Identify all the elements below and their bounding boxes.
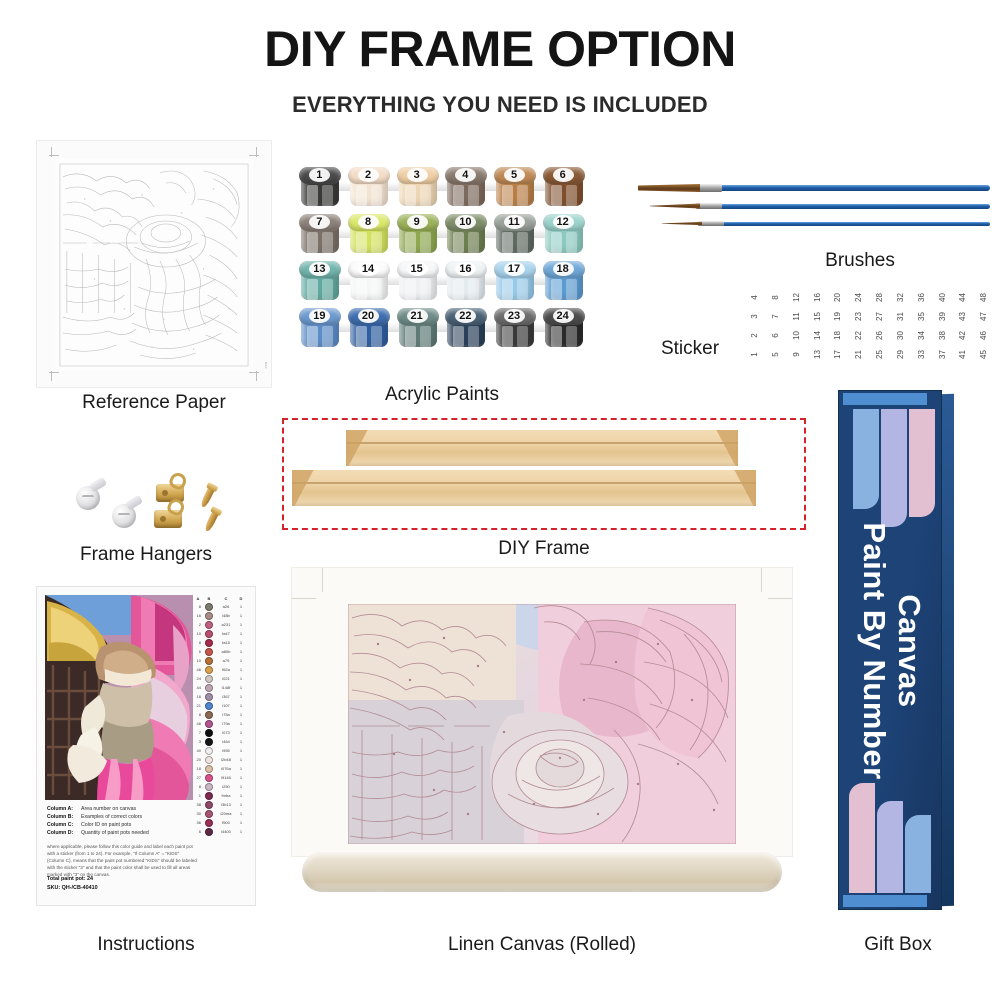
paint-pot: 2 bbox=[347, 166, 391, 210]
sticker-number: 48 bbox=[974, 287, 993, 308]
instruction-column-key: Column A: bbox=[47, 805, 81, 813]
legend-quantity: 1 bbox=[237, 613, 245, 618]
legend-color-swatch bbox=[205, 792, 213, 800]
legend-row: 36f5001 bbox=[193, 818, 249, 827]
caption-linen-canvas: Linen Canvas (Rolled) bbox=[292, 934, 792, 956]
instructions-note: where applicable, please follow this col… bbox=[47, 843, 197, 878]
sticker-number: 40 bbox=[932, 287, 951, 308]
legend-area-number: 24 bbox=[193, 676, 203, 681]
legend-color-swatch bbox=[205, 711, 213, 719]
sticker-number: 7 bbox=[766, 306, 785, 327]
legend-row: 8i75a1 bbox=[193, 710, 249, 719]
legend-quantity: 1 bbox=[237, 775, 245, 780]
legend-color-id: i073 bbox=[215, 730, 237, 735]
instructions-column-definitions: Column A:Area number on canvasColumn B:E… bbox=[47, 805, 197, 878]
paint-pot-row: 789101112 bbox=[296, 213, 588, 259]
sticker-number: 44 bbox=[953, 287, 972, 308]
sticker-number: 15 bbox=[807, 306, 826, 327]
legend-color-id: i021 bbox=[215, 676, 237, 681]
sticker-number: 20 bbox=[828, 287, 847, 308]
sticker-number: 5 bbox=[766, 344, 785, 365]
instruction-column-desc: Color ID on paint pots bbox=[81, 821, 131, 829]
sticker-number: 27 bbox=[870, 306, 889, 327]
plastic-hanger-icon bbox=[76, 486, 100, 510]
instructions-totals: Total paint pot: 24 SKU: QH-/CB-40410 bbox=[47, 875, 98, 893]
legend-color-swatch bbox=[205, 738, 213, 746]
legend-quantity: 1 bbox=[237, 820, 245, 825]
legend-color-id: f62a bbox=[215, 667, 237, 672]
legend-color-id: fa15 bbox=[215, 640, 237, 645]
legend-header-cell: C bbox=[215, 596, 237, 601]
sticker-number: 14 bbox=[807, 325, 826, 346]
legend-area-number: 44 bbox=[193, 685, 203, 690]
legend-area-number: 27 bbox=[193, 775, 203, 780]
sticker-number: 37 bbox=[932, 344, 951, 365]
legend-quantity: 1 bbox=[237, 784, 245, 789]
legend-color-id: f500 bbox=[215, 820, 237, 825]
legend-color-swatch bbox=[205, 612, 213, 620]
paint-pot: 23 bbox=[493, 307, 537, 351]
sticker-number: 8 bbox=[766, 287, 785, 308]
legend-quantity: 1 bbox=[237, 667, 245, 672]
paint-pot: 16 bbox=[444, 260, 488, 304]
legend-quantity: 1 bbox=[237, 676, 245, 681]
sticker-number: 6 bbox=[766, 325, 785, 346]
sticker-number: 18 bbox=[828, 325, 847, 346]
instruction-column-desc: Area number on canvas bbox=[81, 805, 136, 813]
paint-pot: 18 bbox=[542, 260, 586, 304]
sticker-number: 16 bbox=[807, 287, 826, 308]
acrylic-paints-group: 123456789101112131415161718192021222324 bbox=[296, 166, 588, 360]
legend-color-id: a79 bbox=[215, 658, 237, 663]
diy-frame-group bbox=[282, 418, 806, 530]
sticker-number: 26 bbox=[870, 325, 889, 346]
legend-color-swatch bbox=[205, 756, 213, 764]
sticker-number: 47 bbox=[974, 306, 993, 327]
legend-quantity: 1 bbox=[237, 640, 245, 645]
page-subtitle: EVERYTHING YOU NEED IS INCLUDED bbox=[0, 92, 1000, 118]
legend-color-swatch bbox=[205, 630, 213, 638]
legend-color-id: a231 bbox=[215, 622, 237, 627]
caption-brushes: Brushes bbox=[760, 250, 960, 272]
instruction-column-definition: Column D:Quantity of paint pots needed bbox=[47, 829, 197, 837]
legend-quantity: 1 bbox=[237, 712, 245, 717]
legend-quantity: 1 bbox=[237, 730, 245, 735]
legend-quantity: 1 bbox=[237, 604, 245, 609]
paint-pot: 21 bbox=[396, 307, 440, 351]
legend-quantity: 1 bbox=[237, 703, 245, 708]
legend-color-swatch bbox=[205, 684, 213, 692]
paint-pot: 24 bbox=[542, 307, 586, 351]
paint-pot: 11 bbox=[493, 213, 537, 257]
paint-pot-row: 131415161718 bbox=[296, 260, 588, 306]
sticker-number: 9 bbox=[787, 344, 806, 365]
total-paint-pots: Total paint pot: 24 bbox=[47, 875, 98, 884]
legend-color-id: i148f bbox=[215, 685, 237, 690]
legend-swatch-cell bbox=[203, 756, 215, 764]
paint-pot: 6 bbox=[542, 166, 586, 210]
legend-color-swatch bbox=[205, 657, 213, 665]
legend-color-swatch bbox=[205, 747, 213, 755]
instructions-artwork bbox=[45, 595, 193, 800]
legend-swatch-cell bbox=[203, 684, 215, 692]
gift-box-line-2: Paint By Number bbox=[857, 522, 892, 779]
sticker-number: 42 bbox=[953, 325, 972, 346]
paint-pot: 8 bbox=[347, 213, 391, 257]
legend-row: 8a261 bbox=[193, 602, 249, 611]
legend-area-number: 40 bbox=[193, 748, 203, 753]
paint-pot: 22 bbox=[444, 307, 488, 351]
legend-color-id: i367 bbox=[215, 694, 237, 699]
paint-pot-number: 17 bbox=[493, 261, 535, 277]
legend-quantity: 1 bbox=[237, 685, 245, 690]
legend-row: 30i20ma1 bbox=[193, 809, 249, 818]
legend-row: 1fmba1 bbox=[193, 791, 249, 800]
paint-pot-number: 21 bbox=[396, 308, 438, 324]
legend-color-id: i20ma bbox=[215, 811, 237, 816]
legend-area-number: 46 bbox=[193, 721, 203, 726]
sticker-number: 39 bbox=[932, 306, 951, 327]
legend-color-id: i076a bbox=[215, 766, 237, 771]
sticker-number: 12 bbox=[787, 287, 806, 308]
sticker-number: 3 bbox=[745, 306, 764, 327]
legend-row: 10a791 bbox=[193, 656, 249, 665]
sticker-number: 46 bbox=[974, 325, 993, 346]
sticker-number: 4 bbox=[745, 287, 764, 308]
legend-color-swatch bbox=[205, 675, 213, 683]
legend-row: 8fa151 bbox=[193, 638, 249, 647]
legend-area-number: 8 bbox=[193, 712, 203, 717]
reference-paper-artwork bbox=[55, 159, 253, 371]
legend-area-number: 7 bbox=[193, 730, 203, 735]
legend-area-number: 10 bbox=[193, 658, 203, 663]
gift-box-line-1: Canvas bbox=[892, 594, 927, 707]
paint-pot-number: 2 bbox=[347, 167, 389, 183]
legend-color-swatch bbox=[205, 765, 213, 773]
legend-swatch-cell bbox=[203, 819, 215, 827]
legend-quantity: 1 bbox=[237, 739, 245, 744]
legend-header-cell: D bbox=[237, 596, 245, 601]
caption-frame-hangers: Frame Hangers bbox=[36, 544, 256, 566]
sticker-number-grid: 4812162024283236404448371115192327313539… bbox=[744, 288, 994, 364]
paint-pot-number: 4 bbox=[444, 167, 486, 183]
legend-row: 46f62a1 bbox=[193, 665, 249, 674]
legend-swatch-cell bbox=[203, 774, 215, 782]
canvas-sheet bbox=[292, 568, 792, 856]
legend-area-number: 20 bbox=[193, 757, 203, 762]
paint-pot-number: 22 bbox=[444, 308, 486, 324]
paint-pot: 13 bbox=[298, 260, 342, 304]
paint-pot-number: 10 bbox=[444, 214, 486, 230]
legend-color-swatch bbox=[205, 783, 213, 791]
legend-swatch-cell bbox=[203, 675, 215, 683]
caption-acrylic-paints: Acrylic Paints bbox=[296, 384, 588, 406]
paint-pot: 19 bbox=[298, 307, 342, 351]
sticker-number: 10 bbox=[787, 325, 806, 346]
legend-swatch-cell bbox=[203, 621, 215, 629]
legend-color-swatch bbox=[205, 819, 213, 827]
instructions-card: ABCD8a26116i48b12a231110fa4718fa1516a80b… bbox=[36, 586, 256, 906]
sticker-number: 38 bbox=[932, 325, 951, 346]
legend-color-id: i2b48 bbox=[215, 757, 237, 762]
reference-paper: REF bbox=[36, 140, 272, 388]
paint-pot-number: 18 bbox=[542, 261, 584, 277]
paint-pot: 7 bbox=[298, 213, 342, 257]
sticker-number: 11 bbox=[787, 306, 806, 327]
legend-color-id: fa47 bbox=[215, 631, 237, 636]
legend-quantity: 1 bbox=[237, 649, 245, 654]
caption-instructions: Instructions bbox=[36, 934, 256, 956]
detail-brush bbox=[662, 220, 990, 228]
instruction-column-key: Column D: bbox=[47, 829, 81, 837]
legend-color-swatch bbox=[205, 729, 213, 737]
sticker-number: 31 bbox=[891, 306, 910, 327]
legend-color-id: i464 bbox=[215, 739, 237, 744]
legend-color-swatch bbox=[205, 801, 213, 809]
legend-swatch-cell bbox=[203, 747, 215, 755]
legend-color-swatch bbox=[205, 810, 213, 818]
legend-quantity: 1 bbox=[237, 694, 245, 699]
legend-area-number: 46 bbox=[193, 667, 203, 672]
caption-gift-box: Gift Box bbox=[838, 934, 958, 956]
legend-swatch-cell bbox=[203, 729, 215, 737]
sticker-number: 34 bbox=[912, 325, 931, 346]
legend-color-id: i48b bbox=[215, 613, 237, 618]
legend-quantity: 1 bbox=[237, 766, 245, 771]
legend-color-swatch bbox=[205, 666, 213, 674]
legend-area-number: 3 bbox=[193, 739, 203, 744]
sticker-number: 17 bbox=[828, 344, 847, 365]
sticker-number: 30 bbox=[891, 325, 910, 346]
caption-reference-paper: Reference Paper bbox=[36, 392, 272, 414]
legend-swatch-cell bbox=[203, 648, 215, 656]
paint-pot: 10 bbox=[444, 213, 488, 257]
legend-swatch-cell bbox=[203, 792, 215, 800]
instructions-color-legend: ABCD8a26116i48b12a231110fa4718fa1516a80b… bbox=[193, 595, 249, 825]
sticker-number: 35 bbox=[912, 306, 931, 327]
legend-quantity: 1 bbox=[237, 829, 245, 834]
legend-area-number: 10 bbox=[193, 631, 203, 636]
legend-quantity: 1 bbox=[237, 658, 245, 663]
paint-pot-number: 12 bbox=[542, 214, 584, 230]
legend-area-number: 1 bbox=[193, 793, 203, 798]
paint-pot: 4 bbox=[444, 166, 488, 210]
legend-header-cell: B bbox=[203, 596, 215, 601]
paint-pot: 15 bbox=[396, 260, 440, 304]
sticker-number: 13 bbox=[807, 344, 826, 365]
brushes-group bbox=[618, 176, 990, 248]
paint-pot-number: 11 bbox=[493, 214, 535, 230]
paint-pot: 17 bbox=[493, 260, 537, 304]
paint-pot: 1 bbox=[298, 166, 342, 210]
legend-area-number: 18 bbox=[193, 766, 203, 771]
instruction-column-definition: Column C:Color ID on paint pots bbox=[47, 821, 197, 829]
legend-row: 16i48b1 bbox=[193, 611, 249, 620]
legend-color-swatch bbox=[205, 720, 213, 728]
paint-pot-number: 20 bbox=[347, 308, 389, 324]
paint-pot-row: 192021222324 bbox=[296, 307, 588, 353]
legend-row: 3i4641 bbox=[193, 737, 249, 746]
legend-row: 27i91461 bbox=[193, 773, 249, 782]
paint-pot-number: 19 bbox=[298, 308, 340, 324]
paint-pot: 14 bbox=[347, 260, 391, 304]
legend-color-id: i955 bbox=[215, 748, 237, 753]
legend-color-swatch bbox=[205, 693, 213, 701]
paint-pot-number: 7 bbox=[298, 214, 340, 230]
legend-area-number: 6 bbox=[193, 649, 203, 654]
legend-color-swatch bbox=[205, 828, 213, 836]
round-brush bbox=[650, 202, 990, 211]
product-infographic: DIY FRAME OPTION EVERYTHING YOU NEED IS … bbox=[0, 0, 1000, 1000]
legend-row: 7i0731 bbox=[193, 728, 249, 737]
paint-pot-number: 9 bbox=[396, 214, 438, 230]
paint-pot: 3 bbox=[396, 166, 440, 210]
legend-swatch-cell bbox=[203, 603, 215, 611]
paint-pot-rail bbox=[304, 229, 580, 238]
legend-swatch-cell bbox=[203, 720, 215, 728]
paint-pot-rail bbox=[304, 182, 580, 191]
sticker-number: 28 bbox=[870, 287, 889, 308]
legend-header-row: ABCD bbox=[193, 595, 249, 602]
sticker-sheet: 4812162024283236404448371115192327313539… bbox=[744, 288, 994, 364]
legend-color-id: i250 bbox=[215, 784, 237, 789]
legend-swatch-cell bbox=[203, 810, 215, 818]
brass-d-ring-icon bbox=[154, 510, 182, 528]
legend-color-id: a26 bbox=[215, 604, 237, 609]
legend-row: 8i2501 bbox=[193, 782, 249, 791]
legend-color-swatch bbox=[205, 774, 213, 782]
legend-color-id: fmba bbox=[215, 793, 237, 798]
linen-canvas-group bbox=[292, 568, 792, 900]
sticker-number: 22 bbox=[849, 325, 868, 346]
legend-area-number: 2 bbox=[193, 622, 203, 627]
sticker-number: 19 bbox=[828, 306, 847, 327]
legend-color-swatch bbox=[205, 639, 213, 647]
legend-swatch-cell bbox=[203, 801, 215, 809]
paint-pot-number: 6 bbox=[542, 167, 584, 183]
legend-swatch-cell bbox=[203, 702, 215, 710]
paint-pot-number: 24 bbox=[542, 308, 584, 324]
paint-pot-number: 23 bbox=[493, 308, 535, 324]
legend-color-swatch bbox=[205, 648, 213, 656]
legend-header-cell: A bbox=[193, 596, 203, 601]
paint-pot-number: 16 bbox=[444, 261, 486, 277]
paint-pot-number: 1 bbox=[298, 167, 340, 183]
legend-row: 20i2b481 bbox=[193, 755, 249, 764]
legend-color-id: i107 bbox=[215, 703, 237, 708]
legend-row: 24i0211 bbox=[193, 674, 249, 683]
legend-area-number: 16 bbox=[193, 613, 203, 618]
instruction-column-definition: Column A:Area number on canvas bbox=[47, 805, 197, 813]
legend-area-number: 8 bbox=[193, 640, 203, 645]
legend-quantity: 1 bbox=[237, 802, 245, 807]
sku: SKU: QH-/CB-40410 bbox=[47, 884, 98, 893]
paint-pot: 20 bbox=[347, 307, 391, 351]
legend-row: 21i1071 bbox=[193, 701, 249, 710]
caption-diy-frame: DIY Frame bbox=[282, 538, 806, 560]
instruction-column-desc: Quantity of paint pots needed bbox=[81, 829, 149, 837]
legend-row: 46i79a1 bbox=[193, 719, 249, 728]
legend-swatch-cell bbox=[203, 711, 215, 719]
sticker-number: 29 bbox=[891, 344, 910, 365]
gift-box-title: Canvas Paint By Number bbox=[839, 391, 943, 911]
legend-color-swatch bbox=[205, 621, 213, 629]
sticker-number: 41 bbox=[953, 344, 972, 365]
legend-area-number: 21 bbox=[193, 703, 203, 708]
paint-pot-number: 5 bbox=[493, 167, 535, 183]
legend-color-id: i79a bbox=[215, 721, 237, 726]
instruction-column-key: Column C: bbox=[47, 821, 81, 829]
legend-swatch-cell bbox=[203, 630, 215, 638]
legend-row: 18i076a1 bbox=[193, 764, 249, 773]
paint-pot-number: 15 bbox=[396, 261, 438, 277]
sticker-number: 32 bbox=[891, 287, 910, 308]
screw-icon bbox=[204, 510, 220, 533]
legend-color-id: i75a bbox=[215, 712, 237, 717]
legend-row: 40i9551 bbox=[193, 746, 249, 755]
sticker-number: 43 bbox=[953, 306, 972, 327]
plastic-hanger-icon bbox=[112, 504, 136, 528]
legend-color-id: i3b13 bbox=[215, 802, 237, 807]
legend-quantity: 1 bbox=[237, 811, 245, 816]
sticker-number: 23 bbox=[849, 306, 868, 327]
legend-swatch-cell bbox=[203, 738, 215, 746]
legend-color-id: i9146 bbox=[215, 775, 237, 780]
legend-area-number: 8 bbox=[193, 604, 203, 609]
sticker-number: 36 bbox=[912, 287, 931, 308]
legend-quantity: 1 bbox=[237, 631, 245, 636]
legend-area-number: 16 bbox=[193, 694, 203, 699]
legend-quantity: 1 bbox=[237, 748, 245, 753]
legend-row: 38i3b131 bbox=[193, 800, 249, 809]
legend-row: 44i148f1 bbox=[193, 683, 249, 692]
reference-paper-code: REF bbox=[264, 362, 268, 369]
sticker-number: 24 bbox=[849, 287, 868, 308]
legend-row: 16i3671 bbox=[193, 692, 249, 701]
legend-quantity: 1 bbox=[237, 721, 245, 726]
legend-area-number: 8 bbox=[193, 784, 203, 789]
paint-pot-number: 3 bbox=[396, 167, 438, 183]
paint-pot: 9 bbox=[396, 213, 440, 257]
paint-pot-number: 13 bbox=[298, 261, 340, 277]
paint-pot-number: 14 bbox=[347, 261, 389, 277]
legend-swatch-cell bbox=[203, 828, 215, 836]
frame-hangers-group bbox=[70, 470, 240, 536]
legend-swatch-cell bbox=[203, 693, 215, 701]
sticker-number: 33 bbox=[912, 344, 931, 365]
legend-color-id: i4400 bbox=[215, 829, 237, 834]
legend-swatch-cell bbox=[203, 612, 215, 620]
paint-pot-row: 123456 bbox=[296, 166, 588, 212]
page-title: DIY FRAME OPTION bbox=[0, 24, 1000, 74]
paint-pot: 5 bbox=[493, 166, 537, 210]
legend-row: 6i44001 bbox=[193, 827, 249, 836]
legend-swatch-cell bbox=[203, 639, 215, 647]
instruction-column-desc: Examples of correct colors bbox=[81, 813, 142, 821]
canvas-roll bbox=[302, 852, 782, 892]
flat-brush bbox=[638, 182, 990, 194]
legend-color-id: a80b bbox=[215, 649, 237, 654]
sticker-number: 21 bbox=[849, 344, 868, 365]
legend-row: 10fa471 bbox=[193, 629, 249, 638]
legend-row: 6a80b1 bbox=[193, 647, 249, 656]
legend-row: 2a2311 bbox=[193, 620, 249, 629]
legend-swatch-cell bbox=[203, 657, 215, 665]
caption-sticker: Sticker bbox=[630, 338, 750, 360]
paint-pot-rail bbox=[304, 276, 580, 285]
canvas-artwork bbox=[348, 604, 736, 844]
gift-box-front-panel: Canvas Paint By Number bbox=[838, 390, 942, 910]
